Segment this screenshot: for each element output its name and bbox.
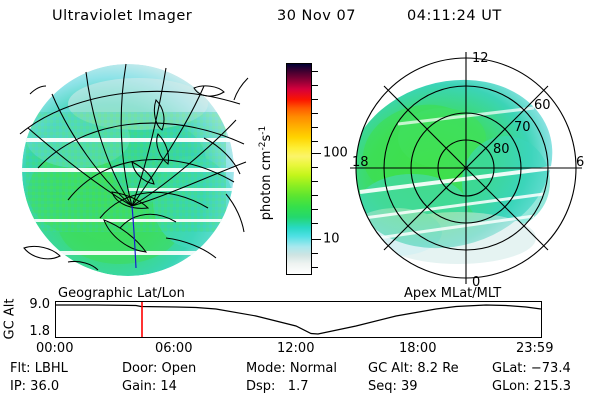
colorbar: photon cm-2s-1 100 10 xyxy=(270,58,332,288)
mlt-dial-panel[interactable]: 12 6 0 18 60 70 80 xyxy=(338,42,594,294)
mlt-label-18: 18 xyxy=(352,155,369,170)
status-dsp: Dsp: 1.7 xyxy=(246,379,309,394)
geographic-image-panel[interactable] xyxy=(8,42,266,294)
xtick-2359: 23:59 xyxy=(516,341,553,356)
geographic-panel-caption: Geographic Lat/Lon xyxy=(58,286,185,301)
xtick-0000: 00:00 xyxy=(36,341,73,356)
instrument-title: Ultraviolet Imager xyxy=(52,8,192,24)
mlat-label-60: 60 xyxy=(534,98,551,113)
auroral-emission-region xyxy=(22,64,234,276)
mlt-grid xyxy=(350,52,582,284)
mlt-label-6: 6 xyxy=(576,155,584,170)
mlat-label-70: 70 xyxy=(514,120,531,135)
observation-time: 04:11:24 UT xyxy=(407,8,502,24)
xtick-0600: 06:00 xyxy=(155,341,192,356)
colorbar-axis-title: photon cm-2s-1 xyxy=(258,126,274,220)
status-gain: Gain: 14 xyxy=(122,379,177,394)
altitude-yticks: 9.0 1.8 xyxy=(18,297,52,341)
altitude-timeline[interactable]: Geographic Lat/Lon Apex MLat/MLT GC Alt … xyxy=(0,293,600,355)
mlt-label-12: 12 xyxy=(472,51,489,66)
status-door: Door: Open xyxy=(122,361,196,376)
xtick-1200: 12:00 xyxy=(277,341,314,356)
mlt-polar-plot: 12 6 0 18 60 70 80 xyxy=(338,42,594,294)
mlt-panel-caption: Apex MLat/MLT xyxy=(404,286,501,301)
header-bar: Ultraviolet Imager 30 Nov 07 04:11:24 UT xyxy=(0,8,600,32)
altitude-plot-area[interactable] xyxy=(55,301,542,338)
status-bar: Flt: LBHL IP: 36.0 Door: Open Gain: 14 M… xyxy=(0,361,600,399)
altitude-ytick-max: 9.0 xyxy=(29,297,50,312)
status-ip: IP: 36.0 xyxy=(10,379,59,394)
altitude-xticks: 00:00 06:00 12:00 18:00 23:59 xyxy=(0,341,600,357)
status-mode: Mode: Normal xyxy=(246,361,337,376)
altitude-curve xyxy=(56,302,541,337)
altitude-axis-label: GC Alt xyxy=(2,297,18,341)
status-glat: GLat: −73.4 xyxy=(492,361,571,376)
observation-date: 30 Nov 07 xyxy=(277,8,356,24)
colorbar-gradient xyxy=(286,63,312,275)
xtick-1800: 18:00 xyxy=(399,341,436,356)
mlat-label-80: 80 xyxy=(493,142,510,157)
colorbar-axis: 100 10 xyxy=(312,63,332,275)
status-gcalt: GC Alt: 8.2 Re xyxy=(368,361,459,376)
altitude-ytick-min: 1.8 xyxy=(29,324,50,339)
status-flt: Flt: LBHL xyxy=(10,361,68,376)
status-glon: GLon: 215.3 xyxy=(492,379,571,394)
uvi-summary-plot: Ultraviolet Imager 30 Nov 07 04:11:24 UT xyxy=(0,0,600,400)
status-seq: Seq: 39 xyxy=(368,379,418,394)
geographic-plot xyxy=(8,42,266,294)
